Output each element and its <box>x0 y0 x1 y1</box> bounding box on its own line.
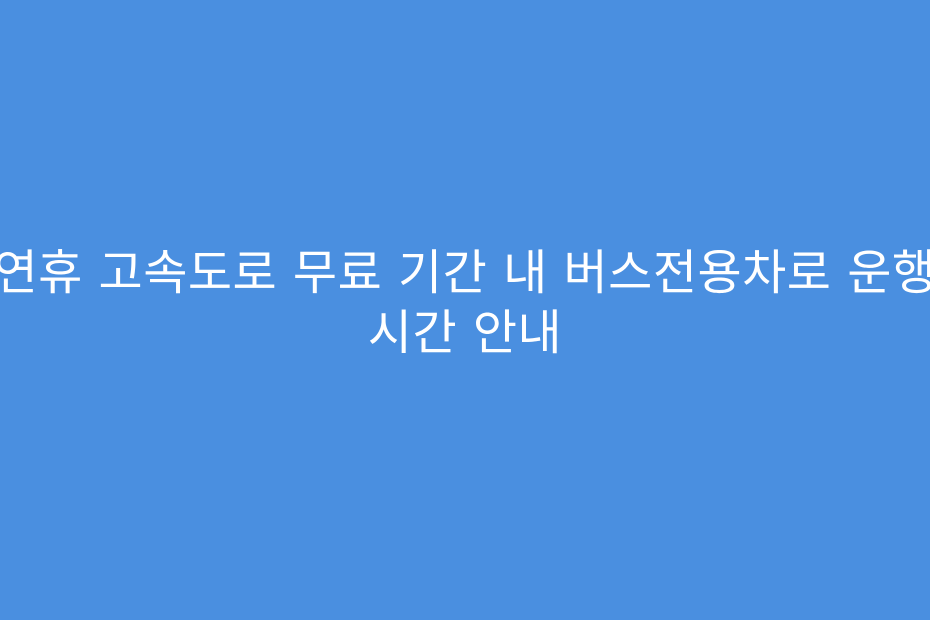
banner-title-line-2: 시간 안내 <box>0 303 930 363</box>
banner-card: 연휴 고속도로 무료 기간 내 버스전용차로 운행 시간 안내 <box>0 0 930 620</box>
banner-text-block: 연휴 고속도로 무료 기간 내 버스전용차로 운행 시간 안내 <box>0 243 930 363</box>
banner-title: 연휴 고속도로 무료 기간 내 버스전용차로 운행 시간 안내 <box>0 243 930 363</box>
banner-title-line-1: 연휴 고속도로 무료 기간 내 버스전용차로 운행 <box>0 243 930 303</box>
